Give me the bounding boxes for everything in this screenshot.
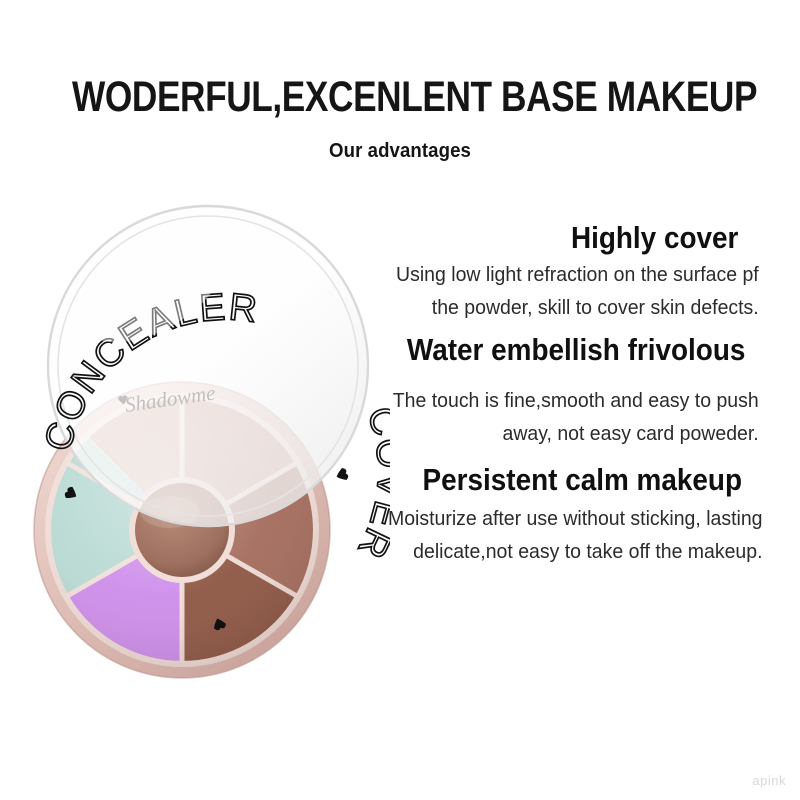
feature-body: The touch is fine,smooth and easy to pus… — [373, 384, 772, 450]
watermark: apink — [752, 773, 786, 788]
feature-title: Persistent calm makeup — [373, 460, 751, 500]
features-list: Highly cover Using low light refraction … — [352, 218, 772, 574]
feature-title: Highly cover — [373, 218, 751, 258]
concealer-palette-illustration: Shadowme CONCEALER COVER — [30, 180, 390, 700]
product-marketing-image: WODERFUL,EXCENLENT BASE MAKEUP Our advan… — [0, 0, 800, 800]
page-title: WODERFUL,EXCENLENT BASE MAKEUP — [72, 72, 728, 122]
feature-title: Water embellish frivolous — [335, 330, 749, 370]
feature-water-embellish-frivolous: Water embellish frivolous The touch is f… — [352, 330, 772, 450]
feature-body: Using low light refraction on the surfac… — [373, 258, 772, 324]
feature-highly-cover: Highly cover Using low light refraction … — [352, 218, 772, 324]
product-photo: Shadowme CONCEALER COVER — [30, 180, 390, 700]
feature-persistent-calm-makeup: Persistent calm makeup Moisturize after … — [352, 460, 772, 568]
feature-body: Moisturize after use without sticking, l… — [373, 502, 772, 568]
page-subtitle: Our advantages — [28, 140, 772, 163]
lid-heart-top-right-icon — [334, 467, 349, 483]
